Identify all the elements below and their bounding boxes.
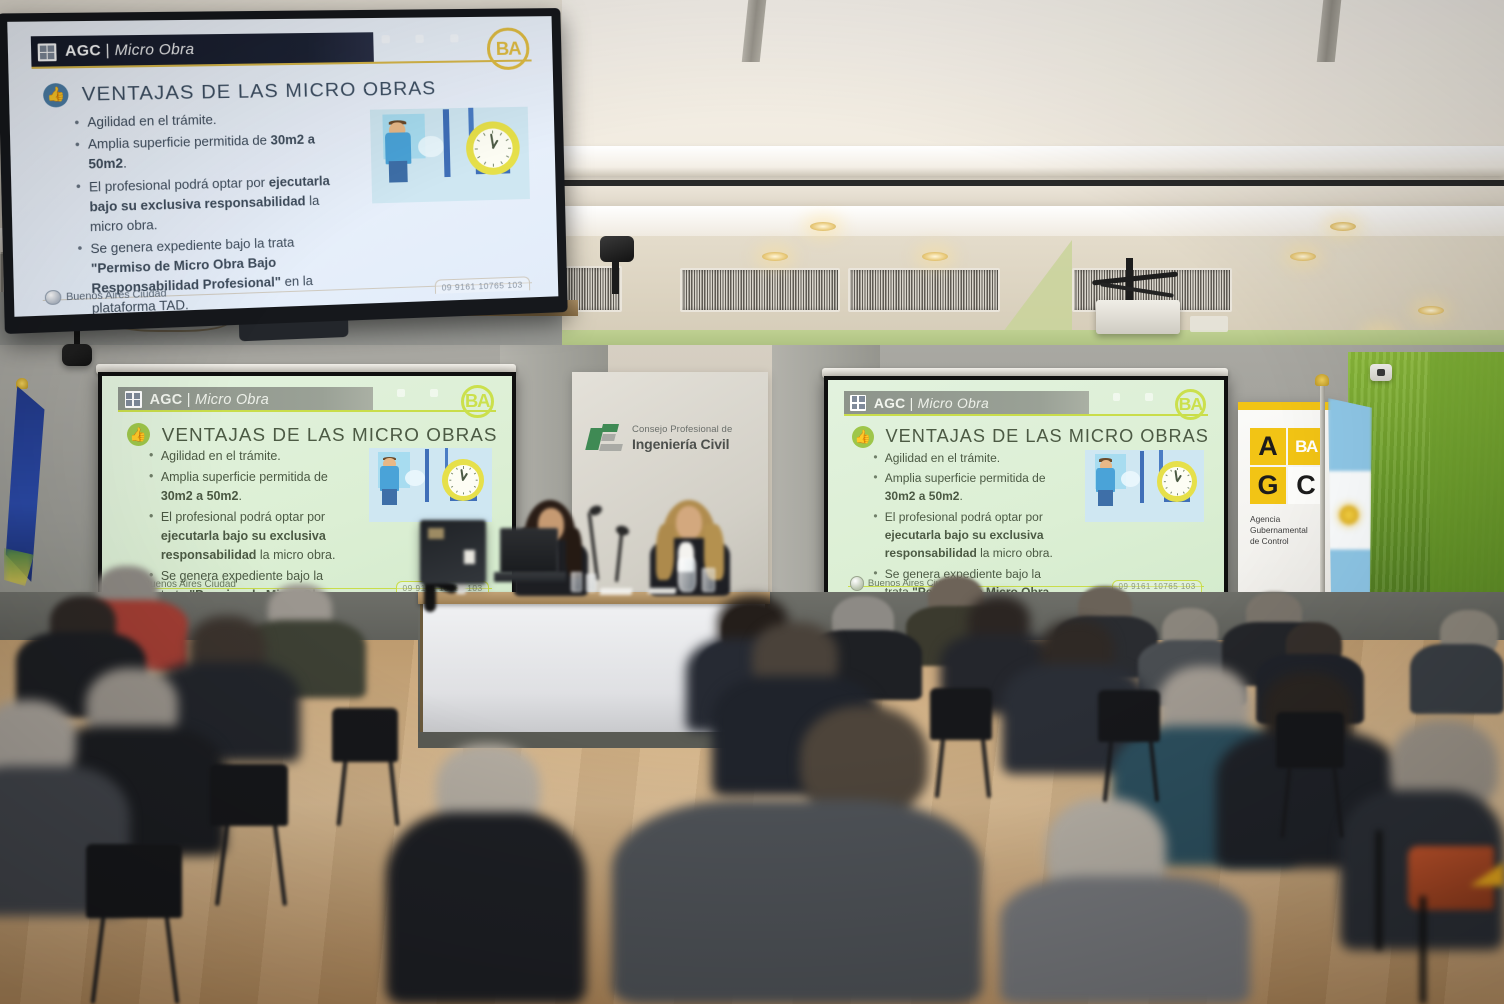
city-seal-icon [850, 576, 864, 590]
slide-decoration-dots [1080, 393, 1152, 401]
ceiling-band [560, 146, 1504, 176]
water-glass[interactable] [571, 572, 582, 592]
worker-with-clock-illustration [370, 106, 530, 203]
slide-bullet-item: Amplia superficie permitida de 30m2 a 50… [73, 130, 339, 175]
worker-with-clock-illustration [369, 448, 492, 522]
clock-icon [465, 121, 520, 175]
ceiling-speaker [62, 344, 92, 366]
slide-header-section: Micro Obra [918, 395, 989, 411]
ba-logo: BA [1175, 389, 1207, 421]
agc-cell-c: C [1288, 467, 1324, 504]
slide-bullet-item: Se genera expediente bajo la trata "Perm… [75, 232, 342, 317]
slide-header-brand: AGC [65, 43, 101, 60]
monitor-label [428, 528, 444, 539]
wall-mounted-tv[interactable]: AGC | Micro Obra BA 👍 VENTAJAS DE LAS MI… [0, 8, 568, 334]
slide-bullet-item: Agilidad en el trámite. [72, 108, 338, 133]
slide-header-separator: | [187, 392, 191, 408]
clock-icon [1157, 461, 1197, 501]
slide-header-rule [118, 410, 495, 412]
water-pitcher[interactable] [678, 558, 696, 592]
thumbs-up-icon: 👍 [127, 423, 150, 446]
air-vent [848, 268, 1000, 312]
slide-footer-tab: 09 9161 10765 103 [1112, 580, 1202, 593]
recessed-light [1330, 222, 1356, 231]
ba-logo-text: BA [465, 390, 489, 412]
slide-header-section: Micro Obra [114, 42, 194, 60]
agc-cell-g: G [1250, 467, 1286, 504]
motion-sensor [1370, 364, 1392, 381]
monitor-label [464, 550, 475, 564]
slide-bullet-item: Amplia superficie permitida de 30m2 a 50… [872, 469, 1062, 506]
slide-header-brand: AGC [150, 392, 183, 408]
slide-bullet-list: Agilidad en el trámite.Amplia superficie… [72, 108, 347, 316]
slide-title-row: 👍 VENTAJAS DE LAS MICRO OBRAS [127, 423, 498, 446]
agc-grid-icon [125, 391, 142, 408]
camera-mount-arm [612, 260, 619, 294]
city-seal-icon [45, 289, 62, 305]
wall-fixture [1190, 316, 1228, 332]
thumbs-up-icon: 👍 [852, 426, 874, 448]
slide-bullet-item: El profesional podrá optar por ejecutarl… [74, 171, 341, 237]
agc-grid-icon [38, 43, 57, 61]
ceiling-soffit [560, 206, 1504, 238]
slide-decoration-dots [363, 389, 438, 397]
paper-document [600, 588, 633, 595]
water-glass[interactable] [586, 574, 596, 592]
slide-title-row: 👍 VENTAJAS DE LAS MICRO OBRAS [43, 77, 436, 108]
worker-with-clock-illustration [1085, 450, 1204, 522]
laptop-base[interactable] [494, 572, 566, 582]
slide-header-separator: | [910, 395, 914, 411]
slide-title: VENTAJAS DE LAS MICRO OBRAS [81, 77, 436, 106]
slide-header: AGC | Micro Obra [118, 387, 372, 412]
air-vent [680, 268, 840, 312]
slide-footer-logo-text: Buenos Aires Ciudad [66, 288, 167, 303]
laptop-screen[interactable] [500, 528, 558, 574]
slide-header-brand: AGC [874, 395, 906, 411]
cpic-logo-icon [588, 424, 624, 454]
ceiling-slab [560, 0, 1504, 148]
recessed-light [922, 252, 948, 261]
agc-cell-a: A [1250, 428, 1286, 465]
recessed-light [810, 222, 836, 231]
venue-banner-line1: Consejo Profesional de [632, 424, 732, 436]
slide-header-section: Micro Obra [195, 392, 269, 408]
ba-logo-text: BA [1179, 394, 1202, 415]
slide-bullet-item: Agilidad en el trámite. [872, 449, 1062, 467]
slide-header-separator: | [105, 43, 110, 60]
recessed-light [1418, 306, 1444, 315]
conference-room-scene: AGC | Micro Obra BA 👍 VENTAJAS DE LAS MI… [0, 0, 1504, 1004]
ceiling-projector [1096, 300, 1180, 334]
ba-logo: BA [461, 385, 494, 418]
slide-title: VENTAJAS DE LAS MICRO OBRAS [886, 426, 1209, 447]
slide-header: AGC | Micro Obra [844, 391, 1090, 415]
thumbs-up-icon: 👍 [43, 83, 69, 108]
slide-title: VENTAJAS DE LAS MICRO OBRAS [162, 424, 498, 446]
slide-footer-tab: 09 9161 10765 103 [434, 277, 529, 295]
desk-monitor-back[interactable] [420, 520, 486, 584]
slide-header-rule [844, 414, 1208, 416]
agc-grid-icon [850, 395, 866, 411]
slide-bullet-item: Amplia superficie permitida de 30m2 a 50… [147, 468, 344, 506]
paper-document [648, 588, 677, 594]
projection-screen-right[interactable]: AGC | Micro Obra BA 👍 VENTAJAS DE LAS MI… [824, 376, 1228, 602]
recessed-light [1290, 252, 1316, 261]
sun-of-may-icon [1340, 506, 1358, 524]
slide-bullet-item: El profesional podrá optar por ejecutarl… [147, 508, 344, 565]
slide-bullet-item: Agilidad en el trámite. [147, 447, 344, 466]
agc-cell-ba: BA [1288, 428, 1324, 465]
venue-banner-line2: Ingeniería Civil [632, 436, 732, 454]
water-glass[interactable] [702, 568, 715, 592]
slide-on-screen-right: AGC | Micro Obra BA 👍 VENTAJAS DE LAS MI… [828, 380, 1224, 598]
agc-logo-grid: A BA G C [1250, 428, 1324, 504]
flagpole-finial [1315, 374, 1329, 386]
slide-title-row: 👍 VENTAJAS DE LAS MICRO OBRAS [852, 426, 1209, 448]
slide-bullet-item: El profesional podrá optar por ejecutarl… [872, 508, 1062, 563]
recessed-light [762, 252, 788, 261]
clock-icon [442, 459, 484, 501]
slide-on-tv: AGC | Micro Obra BA 👍 VENTAJAS DE LAS MI… [7, 16, 558, 317]
ba-logo-text: BA [496, 37, 521, 59]
ba-logo: BA [487, 28, 530, 70]
ceiling-camera [600, 236, 634, 262]
